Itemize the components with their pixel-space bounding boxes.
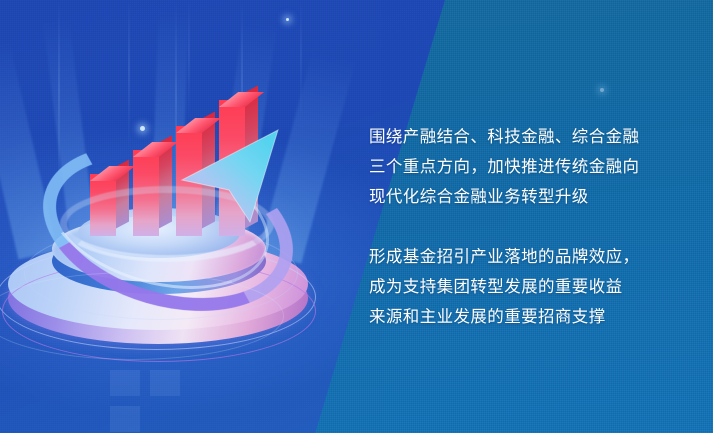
growth-chart-illustration (0, 0, 340, 433)
banner-copy: 围绕产融结合、科技金融、综合金融 三个重点方向，加快推进传统金融向 现代化综合金… (369, 105, 689, 348)
sparkle-dot-icon (600, 88, 604, 92)
promo-banner: 围绕产融结合、科技金融、综合金融 三个重点方向，加快推进传统金融向 现代化综合金… (0, 0, 713, 433)
paragraph-one: 围绕产融结合、科技金融、综合金融 三个重点方向，加快推进传统金融向 现代化综合金… (369, 122, 689, 212)
paragraph-two: 形成基金招引产业落地的品牌效应， 成为支持集团转型发展的重要收益 来源和主业发展… (369, 242, 689, 332)
